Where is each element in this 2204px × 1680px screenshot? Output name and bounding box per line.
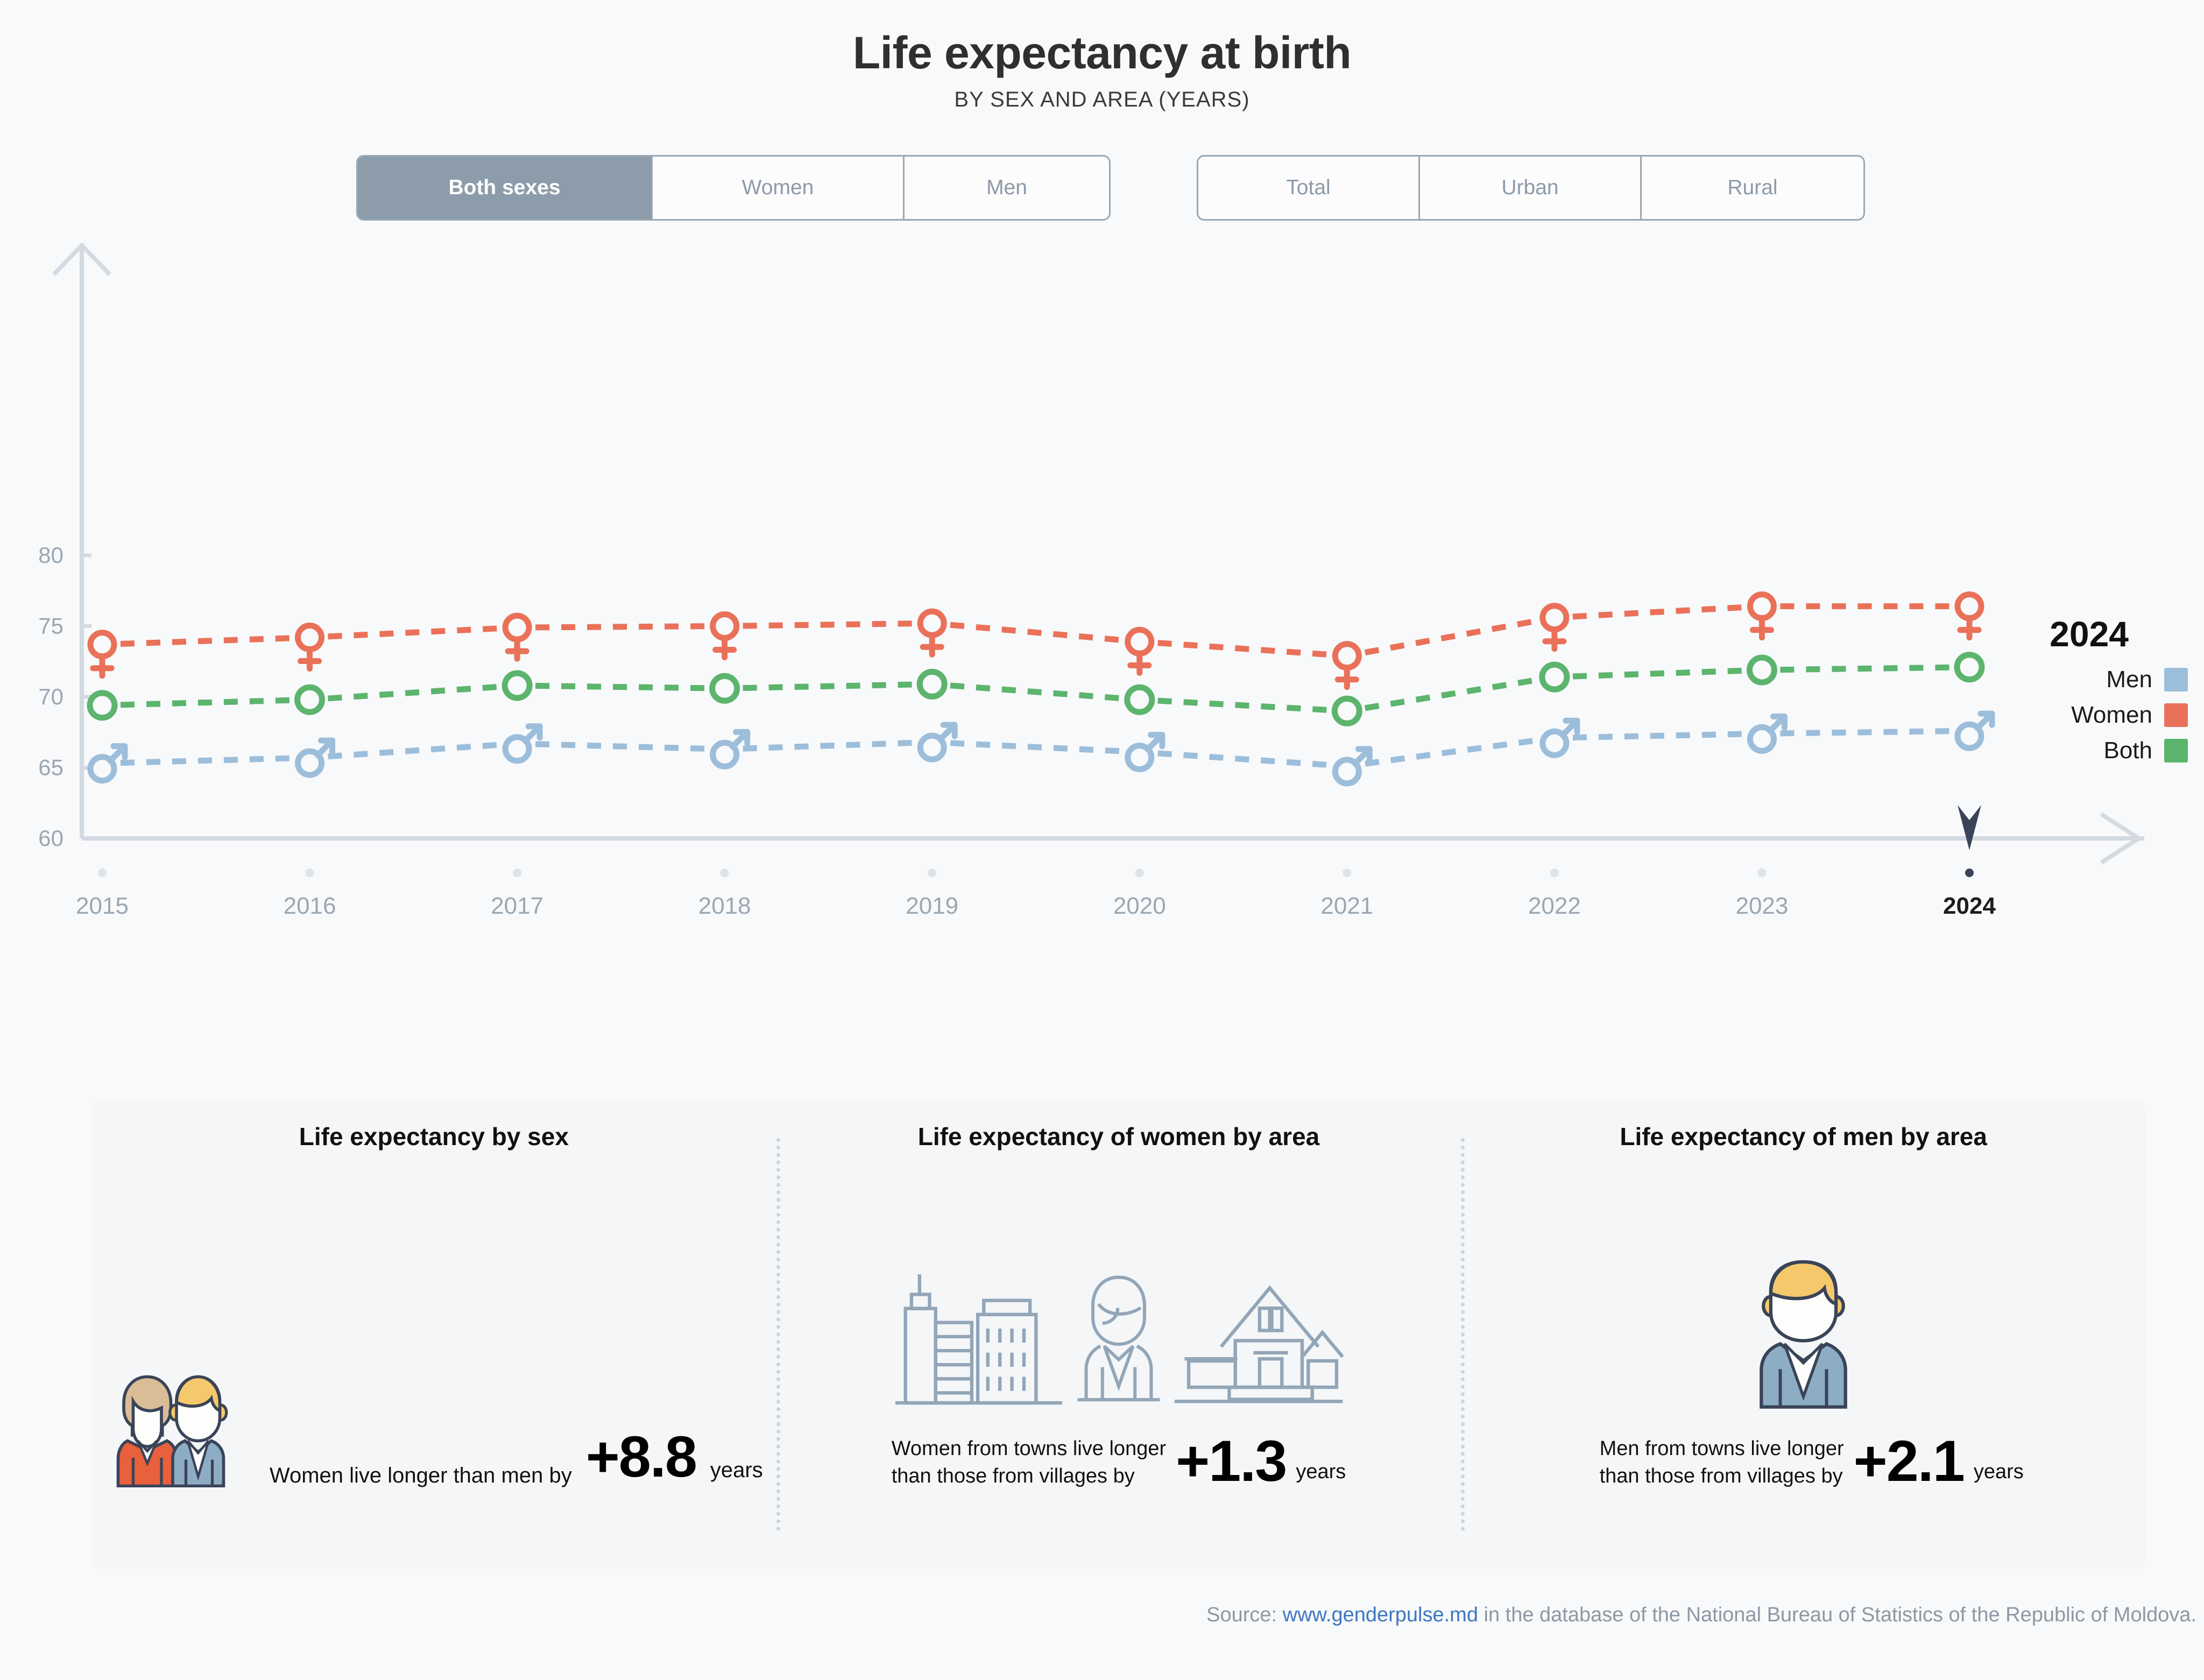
series-line bbox=[328, 745, 499, 757]
venus-icon bbox=[1543, 606, 1566, 630]
circle-marker bbox=[505, 673, 529, 698]
y-tick-label: 80 bbox=[38, 542, 63, 568]
series-line bbox=[1573, 608, 1744, 617]
y-tick-label: 70 bbox=[38, 684, 63, 709]
x-tick-label: 2015 bbox=[76, 893, 129, 919]
sex-filter-group: Both sexes Women Men bbox=[356, 155, 1111, 221]
series-line bbox=[1158, 643, 1329, 655]
venus-icon bbox=[505, 616, 529, 639]
selected-year-marker bbox=[1958, 805, 1981, 850]
card-unit-sex: years bbox=[710, 1458, 763, 1490]
card-unit-women-area: years bbox=[1296, 1460, 1346, 1490]
series-line bbox=[1780, 731, 1951, 733]
x-tick-label: 2023 bbox=[1735, 893, 1788, 919]
legend-item-women[interactable]: Women bbox=[2050, 702, 2188, 729]
x-tick-label: 2017 bbox=[491, 893, 543, 919]
circle-marker bbox=[712, 676, 737, 701]
tab-urban[interactable]: Urban bbox=[1420, 157, 1642, 219]
chart-canvas: 6065707580201520162017201820192020202120… bbox=[0, 237, 2204, 931]
card-value-sex: +8.8 bbox=[586, 1423, 696, 1490]
circle-marker bbox=[1749, 658, 1774, 682]
tab-total[interactable]: Total bbox=[1198, 157, 1420, 219]
series-line bbox=[1158, 701, 1329, 710]
card-value-men-area: +2.1 bbox=[1854, 1432, 1964, 1490]
chart-legend: 2024 Men Women Both bbox=[2050, 613, 2188, 773]
x-tick-dot[interactable] bbox=[928, 869, 936, 877]
series-line bbox=[328, 629, 499, 637]
card-title-sex: Life expectancy by sex bbox=[91, 1122, 776, 1151]
summary-card-women-area: Life expectancy of women by area bbox=[776, 1100, 1461, 1569]
venus-icon bbox=[90, 633, 114, 657]
circle-marker bbox=[1334, 698, 1359, 723]
x-tick-dot[interactable] bbox=[1135, 869, 1144, 877]
series-line bbox=[121, 758, 292, 763]
x-tick-label: 2021 bbox=[1320, 893, 1373, 919]
legend-swatch-men bbox=[2164, 668, 2188, 691]
filter-bar: Both sexes Women Men Total Urban Rural bbox=[0, 155, 2204, 221]
venus-icon bbox=[298, 626, 322, 650]
venus-icon bbox=[920, 611, 944, 635]
x-tick-dot[interactable] bbox=[513, 869, 521, 877]
x-tick-dot[interactable] bbox=[98, 869, 107, 877]
series-line bbox=[743, 624, 914, 626]
village-icon bbox=[1172, 1276, 1345, 1414]
legend-swatch-both bbox=[2164, 739, 2188, 763]
legend-item-both[interactable]: Both bbox=[2050, 737, 2188, 764]
y-tick-label: 65 bbox=[38, 755, 63, 780]
tab-both-sexes[interactable]: Both sexes bbox=[358, 157, 653, 219]
card-text-men-area: Men from towns live longer than those fr… bbox=[1600, 1435, 1844, 1490]
source-prefix: Source: bbox=[1206, 1604, 1283, 1626]
circle-marker bbox=[1127, 687, 1152, 712]
card-title-women-area: Life expectancy of women by area bbox=[776, 1122, 1461, 1151]
series-line bbox=[121, 700, 292, 705]
source-link[interactable]: www.genderpulse.md bbox=[1283, 1604, 1478, 1626]
legend-label-men: Men bbox=[2106, 666, 2152, 693]
couple-icon bbox=[105, 1353, 256, 1490]
summary-card-sex: Life expectancy by sex bbox=[91, 1100, 776, 1569]
series-line bbox=[328, 687, 499, 698]
area-filter-group: Total Urban Rural bbox=[1197, 155, 1865, 221]
circle-marker bbox=[1542, 665, 1567, 689]
card-unit-men-area: years bbox=[1974, 1460, 2024, 1490]
series-line bbox=[743, 743, 914, 749]
x-tick-dot[interactable] bbox=[1343, 869, 1351, 877]
series-line bbox=[535, 744, 707, 749]
x-tick-dot[interactable] bbox=[1757, 869, 1766, 877]
series-women bbox=[90, 595, 1981, 687]
series-line bbox=[743, 684, 914, 688]
series-line bbox=[1573, 734, 1744, 737]
circle-marker bbox=[1957, 655, 1982, 680]
y-tick-label: 60 bbox=[38, 825, 63, 851]
venus-icon bbox=[1128, 630, 1152, 653]
source-footer: Source: www.genderpulse.md in the databa… bbox=[0, 1604, 2204, 1627]
series-line bbox=[535, 686, 707, 688]
legend-year: 2024 bbox=[2050, 613, 2188, 654]
series-line bbox=[950, 686, 1121, 698]
tab-women[interactable]: Women bbox=[653, 157, 905, 219]
legend-item-men[interactable]: Men bbox=[2050, 666, 2188, 693]
woman-outline-icon bbox=[1076, 1260, 1162, 1414]
circle-marker bbox=[298, 687, 322, 712]
series-line bbox=[535, 626, 707, 627]
x-tick-dot[interactable] bbox=[1550, 869, 1559, 877]
series-line bbox=[1780, 667, 1951, 669]
series-both bbox=[90, 655, 1982, 724]
venus-icon bbox=[713, 615, 737, 638]
series-line bbox=[950, 743, 1121, 751]
legend-swatch-women bbox=[2164, 703, 2188, 727]
y-tick-label: 75 bbox=[38, 613, 63, 639]
series-line bbox=[950, 625, 1121, 640]
x-tick-label: 2016 bbox=[284, 893, 336, 919]
man-icon bbox=[1746, 1250, 1861, 1414]
series-line bbox=[1158, 753, 1329, 765]
summary-card-men-area: Life expectancy of men by area bbox=[1461, 1100, 2146, 1569]
chart-header: Life expectancy at birth BY SEX AND AREA… bbox=[0, 0, 2204, 112]
venus-icon bbox=[1750, 595, 1774, 618]
series-men bbox=[90, 714, 1992, 783]
series-line bbox=[121, 638, 292, 644]
summary-panel: Life expectancy by sex bbox=[91, 1100, 2146, 1569]
x-tick-label: 2018 bbox=[698, 893, 751, 919]
x-tick-label: 2024 bbox=[1943, 893, 1996, 919]
x-tick-dot[interactable] bbox=[720, 869, 729, 877]
card-text-sex: Women live longer than men by bbox=[270, 1462, 572, 1490]
venus-icon bbox=[1958, 595, 1981, 618]
city-icon bbox=[893, 1260, 1065, 1414]
x-tick-label: 2020 bbox=[1113, 893, 1166, 919]
x-tick-label: 2022 bbox=[1528, 893, 1581, 919]
line-chart: 6065707580201520162017201820192020202120… bbox=[0, 237, 2204, 931]
page-title: Life expectancy at birth bbox=[0, 27, 2204, 79]
venus-icon bbox=[1335, 644, 1359, 668]
x-tick-label: 2019 bbox=[906, 893, 958, 919]
legend-label-women: Women bbox=[2071, 702, 2152, 729]
series-line bbox=[1573, 670, 1744, 676]
legend-label-both: Both bbox=[2103, 737, 2152, 764]
card-title-men-area: Life expectancy of men by area bbox=[1461, 1122, 2146, 1151]
tab-rural[interactable]: Rural bbox=[1642, 157, 1863, 219]
series-line bbox=[1365, 680, 1536, 708]
page-subtitle: BY SEX AND AREA (YEARS) bbox=[0, 88, 2204, 112]
series-line bbox=[1365, 740, 1536, 764]
source-suffix: in the database of the National Bureau o… bbox=[1478, 1604, 2196, 1626]
tab-men[interactable]: Men bbox=[905, 157, 1109, 219]
card-value-women-area: +1.3 bbox=[1176, 1432, 1286, 1490]
series-line bbox=[1365, 621, 1537, 653]
card-text-women-area: Women from towns live longer than those … bbox=[892, 1435, 1166, 1490]
x-tick-dot[interactable] bbox=[1965, 869, 1974, 877]
circle-marker bbox=[920, 672, 944, 696]
x-tick-dot[interactable] bbox=[306, 869, 314, 877]
circle-marker bbox=[90, 693, 115, 718]
